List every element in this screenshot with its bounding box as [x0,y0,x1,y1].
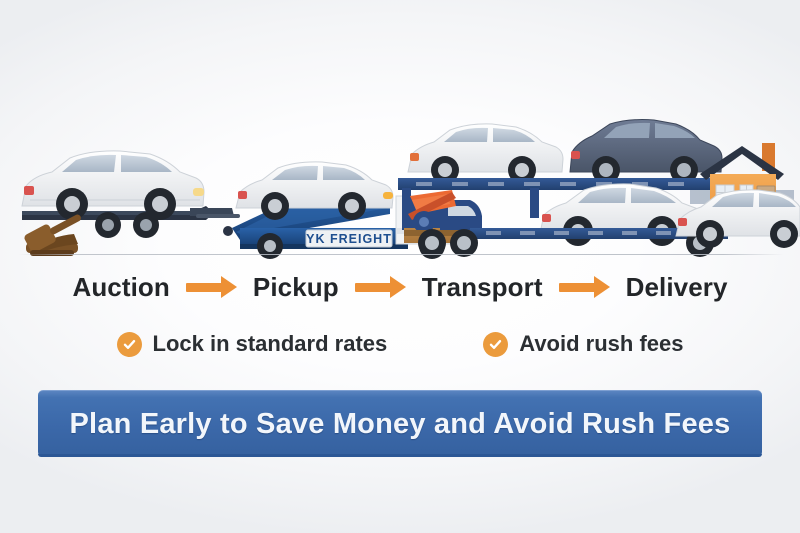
benefit-item: Lock in standard rates [117,331,388,357]
arrow-right-icon [186,276,237,298]
step-label-delivery: Delivery [626,272,728,303]
callout-banner-text: Plan Early to Save Money and Avoid Rush … [70,408,731,441]
step-label-auction: Auction [72,272,169,303]
check-circle-icon [483,332,508,357]
auction-scene-group [22,151,240,256]
carrier-car-upper-left-icon [408,124,563,184]
illustration-band: YK FREIGHT [0,0,800,262]
infographic-canvas: YK FREIGHT [0,0,800,533]
step-label-transport: Transport [422,272,543,303]
ground-line [18,254,784,255]
benefits-row: Lock in standard rates Avoid rush fees [0,322,800,366]
benefit-item: Avoid rush fees [483,331,683,357]
check-circle-icon [117,332,142,357]
arrow-right-icon [559,276,610,298]
carrier-car-upper-right-icon [570,120,722,185]
svg-text:YK FREIGHT: YK FREIGHT [306,232,392,246]
process-steps-row: Auction Pickup Transport Delivery [0,264,800,310]
benefit-label: Lock in standard rates [153,331,388,357]
arrow-right-icon [355,276,406,298]
callout-banner: Plan Early to Save Money and Avoid Rush … [38,390,762,457]
step-label-pickup: Pickup [253,272,339,303]
auction-car-icon [22,151,204,220]
benefit-label: Avoid rush fees [519,331,683,357]
